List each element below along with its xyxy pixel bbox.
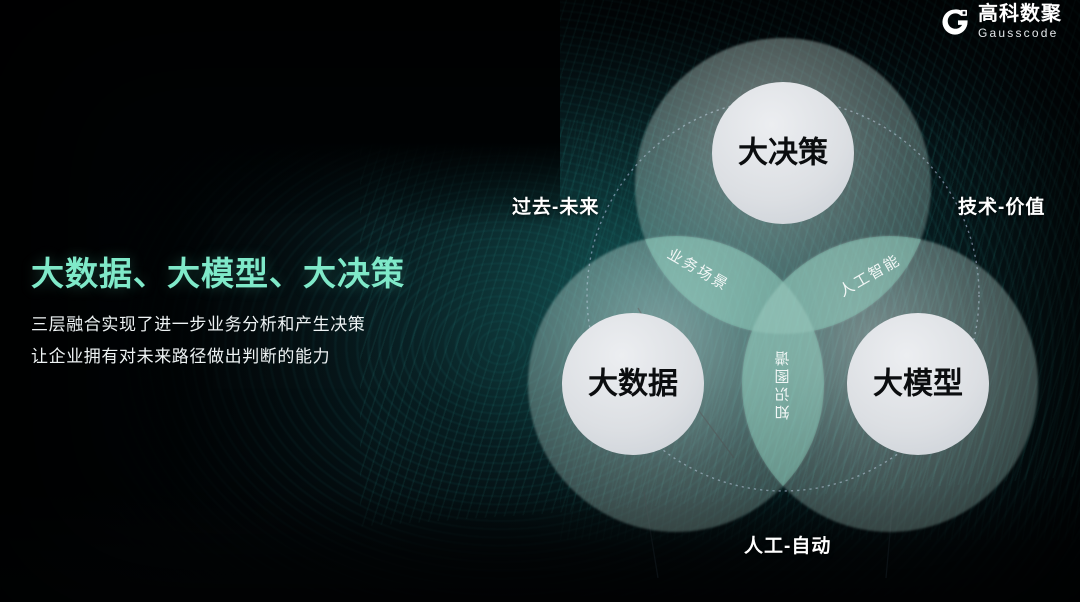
venn-diagram: 大决策 大数据 大模型 业务场景 人工智能 知识图谱: [498, 18, 1068, 578]
axis-label-right: 技术-价值: [958, 192, 1045, 219]
axis-label-left: 过去-未来: [512, 192, 599, 219]
axis-label-bottom: 人工-自动: [744, 531, 831, 558]
subtitle-line-2: 让企业拥有对未来路径做出判断的能力: [31, 341, 461, 373]
page-title: 大数据、大模型、大决策: [31, 255, 461, 293]
brand-name-cn: 高科数聚: [978, 4, 1062, 24]
subtitle-line-1: 三层融合实现了进一步业务分析和产生决策: [31, 309, 461, 341]
venn-intersection-label-center: 知识图谱: [775, 348, 792, 420]
gausscode-g-mark-icon: [940, 7, 970, 37]
venn-core-label-bottom-right: 大模型: [873, 368, 963, 401]
slide-root: 高科数聚 Gausscode 大数据、大模型、大决策 三层融合实现了进一步业务分…: [0, 0, 1080, 602]
brand-name-en: Gausscode: [978, 27, 1062, 39]
brand-logo: 高科数聚 Gausscode: [940, 4, 1062, 39]
headline-block: 大数据、大模型、大决策 三层融合实现了进一步业务分析和产生决策 让企业拥有对未来…: [31, 255, 461, 374]
venn-core-label-bottom-left: 大数据: [588, 368, 678, 401]
venn-core-label-top: 大决策: [738, 136, 828, 170]
brand-logo-text: 高科数聚 Gausscode: [978, 4, 1062, 39]
